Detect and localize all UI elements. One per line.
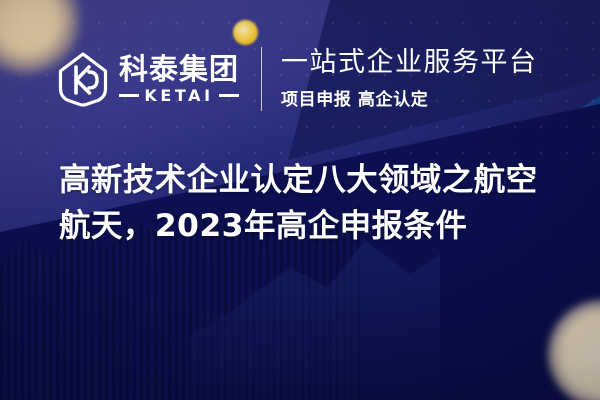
- slogan-secondary: 项目申报 高企认定: [281, 85, 538, 110]
- slogan-primary: 一站式企业服务平台: [281, 48, 538, 77]
- wordmark-rule-left: [119, 94, 139, 97]
- banner-header: 科泰集团 KETAI 一站式企业服务平台 项目申报 高企认定: [56, 44, 538, 114]
- brand-slogan: 一站式企业服务平台 项目申报 高企认定: [281, 48, 538, 109]
- ketai-logo-icon: [56, 51, 110, 107]
- header-divider: [261, 47, 262, 111]
- brand-name-en: KETAI: [144, 88, 213, 104]
- brand-name-en-row: KETAI: [119, 88, 239, 104]
- brand-name-cn: 科泰集团: [119, 55, 239, 84]
- brand-logo[interactable]: 科泰集团 KETAI: [56, 51, 239, 107]
- wordmark-rule-right: [219, 94, 239, 97]
- promo-banner: 科泰集团 KETAI 一站式企业服务平台 项目申报 高企认定 高新技术企业认定八…: [0, 0, 600, 400]
- brand-wordmark: 科泰集团 KETAI: [119, 55, 239, 104]
- banner-title: 高新技术企业认定八大领域之航空航天，2023年高企申报条件: [59, 158, 559, 249]
